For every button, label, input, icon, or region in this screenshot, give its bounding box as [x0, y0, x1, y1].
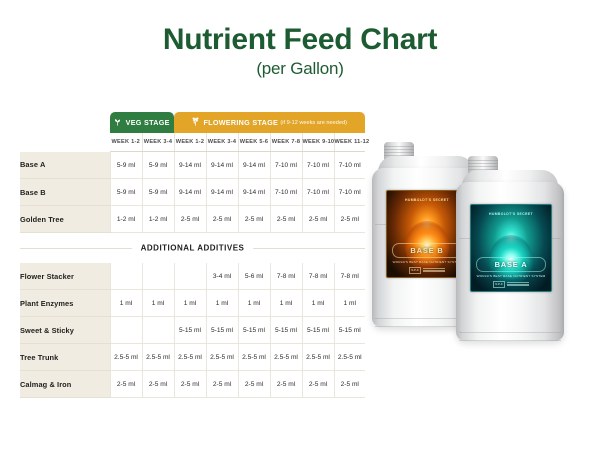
row-label-flower-stacker: Flower Stacker: [20, 263, 110, 290]
cell-flower-stacker-3: [174, 263, 206, 290]
cell-sweet-sticky-6: 5-15 ml: [270, 317, 302, 344]
stage-spacer: [20, 112, 110, 133]
cell-base-a-8: 7-10 ml: [334, 152, 365, 179]
content-area: VEG STAGE FLOWERING: [0, 112, 600, 432]
cell-flower-stacker-2: [142, 263, 174, 290]
week-header-7: WEEK 9-10: [302, 133, 334, 152]
cell-tree-trunk-4: 2.5-5 ml: [206, 344, 238, 371]
cell-calmag-iron-1: 2-5 ml: [110, 371, 142, 398]
row-label-tree-trunk: Tree Trunk: [20, 344, 110, 371]
bottle-label-base-a: HUMBOLDT'S SECRET BASE A WORLD'S BEST BA…: [470, 204, 552, 292]
cell-plant-enzymes-7: 1 ml: [302, 290, 334, 317]
table-row: Calmag & Iron 2-5 ml 2-5 ml 2-5 ml 2-5 m…: [20, 371, 365, 398]
cell-base-a-6: 7-10 ml: [270, 152, 302, 179]
cell-flower-stacker-8: 7-8 ml: [334, 263, 365, 290]
additives-table: Flower Stacker 3-4 ml 5-6 ml 7-8 ml 7-8 …: [20, 263, 365, 398]
cell-golden-tree-7: 2-5 ml: [302, 206, 334, 233]
cell-base-b-5: 9-14 ml: [238, 179, 270, 206]
cell-sweet-sticky-3: 5-15 ml: [174, 317, 206, 344]
bottle-seam: [459, 340, 561, 341]
stage-flowering-note: (if 9-12 weeks are needed): [280, 120, 347, 126]
table-row: Flower Stacker 3-4 ml 5-6 ml 7-8 ml 7-8 …: [20, 263, 365, 290]
cell-sweet-sticky-5: 5-15 ml: [238, 317, 270, 344]
stage-veg-label: VEG STAGE: [126, 118, 170, 127]
cell-flower-stacker-7: 7-8 ml: [302, 263, 334, 290]
cell-sweet-sticky-1: [110, 317, 142, 344]
week-header-row: WEEK 1-2 WEEK 3-4 WEEK 1-2 WEEK 3-4 WEEK…: [20, 133, 365, 152]
cell-sweet-sticky-8: 5-15 ml: [334, 317, 365, 344]
product-images: HUMBOLDT'S SECRET BASE B WORLD'S BEST BA…: [372, 134, 597, 364]
label-brand: HUMBOLDT'S SECRET: [471, 212, 551, 216]
additional-additives-label: ADDITIONAL ADDITIVES: [132, 244, 254, 253]
additional-additives-divider: ADDITIONAL ADDITIVES: [20, 233, 365, 263]
cell-calmag-iron-7: 2-5 ml: [302, 371, 334, 398]
cell-base-b-2: 5-9 ml: [142, 179, 174, 206]
cell-base-b-6: 7-10 ml: [270, 179, 302, 206]
cell-sweet-sticky-7: 5-15 ml: [302, 317, 334, 344]
cell-flower-stacker-5: 5-6 ml: [238, 263, 270, 290]
label-footer: N-P-K: [481, 281, 541, 287]
cell-tree-trunk-8: 2.5-5 ml: [334, 344, 365, 371]
cell-calmag-iron-3: 2-5 ml: [174, 371, 206, 398]
cell-plant-enzymes-6: 1 ml: [270, 290, 302, 317]
cell-base-a-3: 9-14 ml: [174, 152, 206, 179]
label-tagline: WORLD'S BEST BASE NUTRIENT SYSTEM: [475, 274, 547, 278]
week-header-4: WEEK 3-4: [206, 133, 238, 152]
cell-golden-tree-8: 2-5 ml: [334, 206, 365, 233]
row-label-calmag-and-iron: Calmag & Iron: [20, 371, 110, 398]
row-label-plant-enzymes: Plant Enzymes: [20, 290, 110, 317]
cell-tree-trunk-3: 2.5-5 ml: [174, 344, 206, 371]
cell-golden-tree-6: 2-5 ml: [270, 206, 302, 233]
cell-golden-tree-1: 1-2 ml: [110, 206, 142, 233]
week-header-1: WEEK 1-2: [110, 133, 142, 152]
cell-tree-trunk-5: 2.5-5 ml: [238, 344, 270, 371]
cell-base-a-1: 5-9 ml: [110, 152, 142, 179]
cell-tree-trunk-6: 2.5-5 ml: [270, 344, 302, 371]
stage-header-flowering: FLOWERING STAGE (if 9-12 weeks are neede…: [174, 112, 365, 133]
row-label-sweet-and-sticky: Sweet & Sticky: [20, 317, 110, 344]
page-title: Nutrient Feed Chart: [0, 24, 600, 56]
table-row: Base A 5-9 ml 5-9 ml 9-14 ml 9-14 ml 9-1…: [20, 152, 365, 179]
label-product-name: BASE B: [393, 246, 461, 255]
cell-base-a-2: 5-9 ml: [142, 152, 174, 179]
stage-flowering-label: FLOWERING STAGE: [203, 118, 278, 127]
table-row: Sweet & Sticky 5-15 ml 5-15 ml 5-15 ml 5…: [20, 317, 365, 344]
base-nutrients-table: VEG STAGE FLOWERING: [20, 112, 365, 233]
cell-calmag-iron-8: 2-5 ml: [334, 371, 365, 398]
week-header-3: WEEK 1-2: [174, 133, 206, 152]
week-header-5: WEEK 5-6: [238, 133, 270, 152]
label-tagline: WORLD'S BEST BASE NUTRIENT SYSTEM: [391, 260, 463, 264]
cell-plant-enzymes-5: 1 ml: [238, 290, 270, 317]
cell-calmag-iron-4: 2-5 ml: [206, 371, 238, 398]
cell-golden-tree-3: 2-5 ml: [174, 206, 206, 233]
week-header-2: WEEK 3-4: [142, 133, 174, 152]
label-brand: HUMBOLDT'S SECRET: [387, 198, 467, 202]
feed-chart: VEG STAGE FLOWERING: [20, 112, 365, 398]
week-header-8: WEEK 11-12: [334, 133, 365, 152]
table-row: Golden Tree 1-2 ml 1-2 ml 2-5 ml 2-5 ml …: [20, 206, 365, 233]
cell-plant-enzymes-4: 1 ml: [206, 290, 238, 317]
cell-plant-enzymes-1: 1 ml: [110, 290, 142, 317]
bottle-seam: [459, 332, 561, 333]
cell-flower-stacker-1: [110, 263, 142, 290]
page-header: Nutrient Feed Chart (per Gallon): [0, 0, 600, 79]
label-fineprint: [507, 282, 529, 285]
cell-base-b-4: 9-14 ml: [206, 179, 238, 206]
label-product-name: BASE A: [477, 260, 545, 269]
cell-golden-tree-5: 2-5 ml: [238, 206, 270, 233]
label-npk: N-P-K: [493, 281, 506, 288]
cell-base-a-5: 9-14 ml: [238, 152, 270, 179]
cell-golden-tree-2: 1-2 ml: [142, 206, 174, 233]
cell-calmag-iron-5: 2-5 ml: [238, 371, 270, 398]
cell-calmag-iron-2: 2-5 ml: [142, 371, 174, 398]
cell-tree-trunk-1: 2.5-5 ml: [110, 344, 142, 371]
cell-base-b-7: 7-10 ml: [302, 179, 334, 206]
label-fineprint: [423, 268, 445, 271]
cell-base-b-3: 9-14 ml: [174, 179, 206, 206]
stage-header-veg: VEG STAGE: [110, 112, 174, 133]
row-label-base-a: Base A: [20, 152, 110, 179]
cell-tree-trunk-7: 2.5-5 ml: [302, 344, 334, 371]
week-header-6: WEEK 7-8: [270, 133, 302, 152]
flower-icon: [192, 117, 199, 128]
product-bottle-base-a: HUMBOLDT'S SECRET BASE A WORLD'S BEST BA…: [456, 156, 564, 341]
cell-base-a-7: 7-10 ml: [302, 152, 334, 179]
table-row: Base B 5-9 ml 5-9 ml 9-14 ml 9-14 ml 9-1…: [20, 179, 365, 206]
cell-plant-enzymes-8: 1 ml: [334, 290, 365, 317]
cell-base-a-4: 9-14 ml: [206, 152, 238, 179]
cell-flower-stacker-4: 3-4 ml: [206, 263, 238, 290]
cell-tree-trunk-2: 2.5-5 ml: [142, 344, 174, 371]
cell-sweet-sticky-2: [142, 317, 174, 344]
cell-golden-tree-4: 2-5 ml: [206, 206, 238, 233]
table-row: Tree Trunk 2.5-5 ml 2.5-5 ml 2.5-5 ml 2.…: [20, 344, 365, 371]
page-subtitle: (per Gallon): [0, 59, 600, 79]
cell-calmag-iron-6: 2-5 ml: [270, 371, 302, 398]
row-label-base-b: Base B: [20, 179, 110, 206]
stage-header-row: VEG STAGE FLOWERING: [20, 112, 365, 133]
cell-flower-stacker-6: 7-8 ml: [270, 263, 302, 290]
seedling-icon: [114, 118, 121, 128]
label-npk: N-P-K: [409, 267, 422, 274]
table-row: Plant Enzymes 1 ml 1 ml 1 ml 1 ml 1 ml 1…: [20, 290, 365, 317]
cell-plant-enzymes-3: 1 ml: [174, 290, 206, 317]
cell-sweet-sticky-4: 5-15 ml: [206, 317, 238, 344]
cell-plant-enzymes-2: 1 ml: [142, 290, 174, 317]
week-spacer: [20, 133, 110, 152]
cell-base-b-1: 5-9 ml: [110, 179, 142, 206]
label-footer: N-P-K: [397, 267, 457, 273]
row-label-golden-tree: Golden Tree: [20, 206, 110, 233]
cell-base-b-8: 7-10 ml: [334, 179, 365, 206]
